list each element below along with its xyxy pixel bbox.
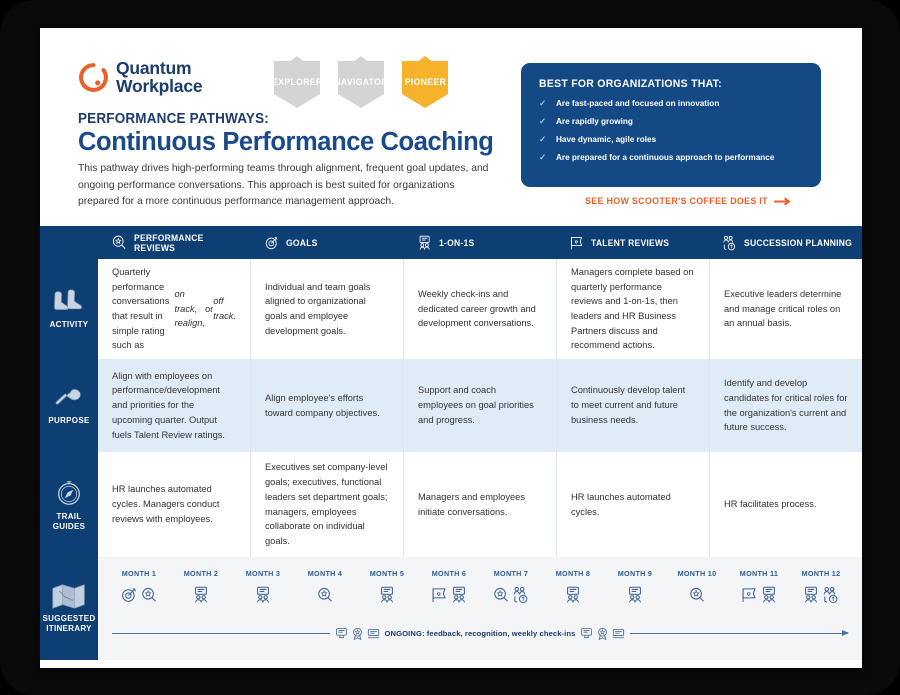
badge-label: NAVIGATOR bbox=[334, 77, 387, 88]
page-title: Continuous Performance Coaching bbox=[78, 128, 493, 157]
infographic-page: Quantum Workplace EXPLORER NAVIGATOR bbox=[40, 28, 862, 668]
feedback-icon bbox=[335, 627, 348, 640]
month-label: MONTH 6 bbox=[420, 569, 479, 578]
list-item: ✓Are prepared for a continuous approach … bbox=[539, 153, 803, 163]
list-item-label: Are fast-paced and focused on innovation bbox=[556, 99, 719, 109]
month-label: MONTH 11 bbox=[730, 569, 789, 578]
column-header-label: 1-ON-1S bbox=[439, 238, 474, 248]
itinerary-month: MONTH 11 bbox=[728, 569, 790, 608]
column-header-label: PERFORMANCE REVIEWS bbox=[134, 233, 245, 253]
logo-line-1: Quantum bbox=[116, 60, 202, 78]
review-magnifier-icon bbox=[316, 586, 334, 604]
month-label: MONTH 8 bbox=[544, 569, 603, 578]
row-label-activity: ACTIVITY bbox=[40, 259, 98, 359]
badge-navigator[interactable]: NAVIGATOR bbox=[326, 55, 396, 109]
row-label-trail-guides: TRAIL GUIDES bbox=[40, 452, 98, 557]
row-label-text: ACTIVITY bbox=[50, 320, 89, 330]
one-on-one-icon bbox=[760, 586, 778, 604]
list-item: ✓Are fast-paced and focused on innovatio… bbox=[539, 99, 803, 109]
itinerary-month: MONTH 10 bbox=[666, 569, 728, 608]
itinerary-timeline: MONTH 1MONTH 2MONTH 3MONTH 4MONTH 5MONTH… bbox=[98, 557, 862, 660]
best-for-organizations-box: BEST FOR ORGANIZATIONS THAT: ✓Are fast-p… bbox=[521, 63, 821, 187]
itinerary-month: MONTH 4 bbox=[294, 569, 356, 608]
logo-line-2: Workplace bbox=[116, 78, 202, 96]
check-icon: ✓ bbox=[539, 153, 547, 162]
month-label: MONTH 5 bbox=[358, 569, 417, 578]
cell: Align with employees on performance/deve… bbox=[98, 359, 251, 452]
badge-pioneer[interactable]: PIONEER bbox=[390, 55, 460, 109]
month-icons bbox=[604, 582, 666, 608]
people-succession-icon bbox=[722, 235, 737, 251]
month-label: MONTH 12 bbox=[792, 569, 851, 578]
one-on-one-icon bbox=[450, 586, 468, 604]
column-header-label: GOALS bbox=[286, 238, 318, 248]
page-header: Quantum Workplace EXPLORER NAVIGATOR bbox=[40, 28, 862, 226]
one-on-one-icon bbox=[254, 586, 272, 604]
month-icons bbox=[294, 582, 356, 608]
itinerary-month: MONTH 6 bbox=[418, 569, 480, 608]
ongoing-label: ONGOING: feedback, recognition, weekly c… bbox=[385, 629, 576, 638]
cell: Executive leaders determine and manage c… bbox=[710, 259, 862, 359]
itinerary-month: MONTH 1 bbox=[108, 569, 170, 608]
month-icons bbox=[108, 582, 170, 608]
itinerary-month: MONTH 5 bbox=[356, 569, 418, 608]
list-item-label: Are prepared for a continuous approach t… bbox=[556, 153, 774, 163]
row-cells: Quarterly performance conversations that… bbox=[98, 259, 862, 359]
checkin-icon bbox=[612, 627, 625, 640]
recognition-icon bbox=[351, 627, 364, 640]
table-header-row: PERFORMANCE REVIEWS GOALS 1-ON-1S TALENT… bbox=[40, 226, 862, 259]
month-icons bbox=[170, 582, 232, 608]
month-icons bbox=[666, 582, 728, 608]
page-kicker: PERFORMANCE PATHWAYS: bbox=[78, 111, 269, 127]
cell: HR facilitates process. bbox=[710, 452, 862, 557]
one-on-one-icon bbox=[564, 586, 582, 604]
itinerary-month: MONTH 9 bbox=[604, 569, 666, 608]
cell: Weekly check-ins and dedicated career gr… bbox=[404, 259, 557, 359]
flag-heart-icon bbox=[569, 235, 584, 251]
column-header-label: TALENT REVIEWS bbox=[591, 238, 669, 248]
column-header-performance-reviews: PERFORMANCE REVIEWS bbox=[98, 233, 251, 253]
boots-icon bbox=[52, 288, 86, 316]
flag-heart-icon bbox=[740, 586, 758, 604]
cell: Managers complete based on quarterly per… bbox=[557, 259, 710, 359]
arrow-right-icon bbox=[774, 197, 793, 206]
target-icon bbox=[120, 586, 138, 604]
month-label: MONTH 10 bbox=[668, 569, 727, 578]
cell: Executives set company-level goals; exec… bbox=[251, 452, 404, 557]
map-icon bbox=[51, 583, 87, 610]
table-row-activity: ACTIVITY Quarterly performance conversat… bbox=[40, 259, 862, 359]
month-label: MONTH 4 bbox=[296, 569, 355, 578]
list-item: ✓Have dynamic, agile roles bbox=[539, 135, 803, 145]
pathway-badges: EXPLORER NAVIGATOR PIONEER bbox=[262, 55, 454, 109]
ongoing-icons-right bbox=[580, 627, 625, 640]
quantum-circle-icon bbox=[78, 62, 109, 93]
cell: Identify and develop candidates for crit… bbox=[710, 359, 862, 452]
checkin-icon bbox=[367, 627, 380, 640]
cell: Quarterly performance conversations that… bbox=[98, 259, 251, 359]
table-row-suggested-itinerary: SUGGESTED ITINERARY MONTH 1MONTH 2MONTH … bbox=[40, 557, 862, 660]
row-label-text: TRAIL GUIDES bbox=[40, 512, 98, 532]
row-cells: HR launches automated cycles. Managers c… bbox=[98, 452, 862, 557]
flag-heart-icon bbox=[430, 586, 448, 604]
best-for-list: ✓Are fast-paced and focused on innovatio… bbox=[539, 99, 803, 162]
timeline-arrow-right bbox=[630, 633, 848, 634]
timeline-line-left bbox=[112, 633, 330, 634]
month-icons bbox=[356, 582, 418, 608]
best-for-title: BEST FOR ORGANIZATIONS THAT: bbox=[539, 78, 790, 90]
column-header-1-on-1s: 1-ON-1S bbox=[404, 235, 557, 251]
check-icon: ✓ bbox=[539, 135, 547, 144]
list-item-label: Have dynamic, agile roles bbox=[556, 135, 656, 145]
one-on-one-icon bbox=[417, 235, 432, 251]
row-label-text: PURPOSE bbox=[48, 416, 89, 426]
month-label: MONTH 3 bbox=[234, 569, 293, 578]
review-magnifier-icon bbox=[492, 586, 510, 604]
column-header-label: SUCCESSION PLANNING bbox=[744, 238, 852, 248]
cell: HR launches automated cycles. Managers c… bbox=[98, 452, 251, 557]
month-icons bbox=[232, 582, 294, 608]
scooters-coffee-cta-link[interactable]: SEE HOW SCOOTER'S COFFEE DOES IT bbox=[585, 196, 793, 206]
itinerary-months: MONTH 1MONTH 2MONTH 3MONTH 4MONTH 5MONTH… bbox=[108, 569, 852, 608]
month-label: MONTH 2 bbox=[172, 569, 231, 578]
ongoing-timeline: ONGOING: feedback, recognition, weekly c… bbox=[112, 627, 848, 640]
cta-label: SEE HOW SCOOTER'S COFFEE DOES IT bbox=[585, 196, 768, 206]
check-icon: ✓ bbox=[539, 99, 547, 108]
row-label-suggested-itinerary: SUGGESTED ITINERARY bbox=[40, 557, 98, 660]
row-cells: Align with employees on performance/deve… bbox=[98, 359, 862, 452]
pathway-table: PERFORMANCE REVIEWS GOALS 1-ON-1S TALENT… bbox=[40, 226, 862, 660]
target-icon bbox=[264, 235, 279, 251]
column-header-goals: GOALS bbox=[251, 235, 404, 251]
review-magnifier-icon bbox=[111, 234, 127, 251]
people-succession-icon bbox=[512, 586, 530, 604]
cell: HR launches automated cycles. bbox=[557, 452, 710, 557]
badge-label: EXPLORER bbox=[272, 77, 322, 88]
month-icons bbox=[790, 582, 852, 608]
month-icons bbox=[480, 582, 542, 608]
cell: Support and coach employees on goal prio… bbox=[404, 359, 557, 452]
itinerary-month: MONTH 3 bbox=[232, 569, 294, 608]
month-icons bbox=[542, 582, 604, 608]
flashlight-icon bbox=[53, 386, 85, 412]
month-label: MONTH 1 bbox=[110, 569, 169, 578]
recognition-icon bbox=[596, 627, 609, 640]
row-label-purpose: PURPOSE bbox=[40, 359, 98, 452]
cell: Continuously develop talent to meet curr… bbox=[557, 359, 710, 452]
review-magnifier-icon bbox=[140, 586, 158, 604]
cell: Individual and team goals aligned to org… bbox=[251, 259, 404, 359]
one-on-one-icon bbox=[802, 586, 820, 604]
cell: Align employee's efforts toward company … bbox=[251, 359, 404, 452]
table-row-trail-guides: TRAIL GUIDES HR launches automated cycle… bbox=[40, 452, 862, 557]
month-label: MONTH 7 bbox=[482, 569, 541, 578]
quantum-workplace-logo: Quantum Workplace bbox=[78, 60, 202, 95]
month-icons bbox=[728, 582, 790, 608]
compass-icon bbox=[54, 478, 84, 508]
page-intro: This pathway drives high-performing team… bbox=[78, 161, 498, 211]
people-succession-icon bbox=[822, 586, 840, 604]
column-header-talent-reviews: TALENT REVIEWS bbox=[556, 235, 709, 251]
itinerary-month: MONTH 7 bbox=[480, 569, 542, 608]
badge-explorer[interactable]: EXPLORER bbox=[262, 55, 332, 109]
check-icon: ✓ bbox=[539, 117, 547, 126]
list-item-label: Are rapidly growing bbox=[556, 117, 633, 127]
feedback-icon bbox=[580, 627, 593, 640]
month-label: MONTH 9 bbox=[606, 569, 665, 578]
list-item: ✓Are rapidly growing bbox=[539, 117, 803, 127]
one-on-one-icon bbox=[626, 586, 644, 604]
itinerary-month: MONTH 2 bbox=[170, 569, 232, 608]
month-icons bbox=[418, 582, 480, 608]
itinerary-month: MONTH 12 bbox=[790, 569, 852, 608]
review-magnifier-icon bbox=[688, 586, 706, 604]
itinerary-month: MONTH 8 bbox=[542, 569, 604, 608]
cell: Managers and employees initiate conversa… bbox=[404, 452, 557, 557]
one-on-one-icon bbox=[192, 586, 210, 604]
row-label-text: SUGGESTED ITINERARY bbox=[40, 614, 98, 634]
table-row-purpose: PURPOSE Align with employees on performa… bbox=[40, 359, 862, 452]
ongoing-icons-left bbox=[335, 627, 380, 640]
column-header-succession-planning: SUCCESSION PLANNING bbox=[709, 235, 862, 251]
one-on-one-icon bbox=[378, 586, 396, 604]
badge-label: PIONEER bbox=[404, 77, 445, 88]
